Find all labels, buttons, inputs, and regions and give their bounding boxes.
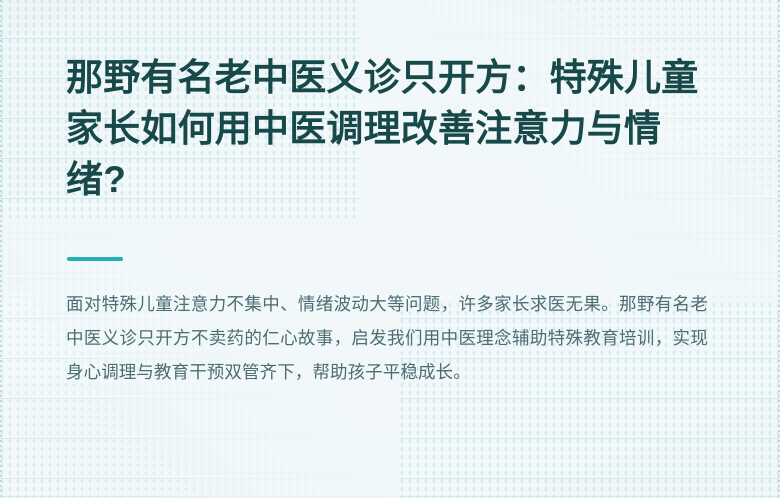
article-headline: 那野有名老中医义诊只开方：特殊儿童家长如何用中医调理改善注意力与情绪? xyxy=(66,52,706,205)
article-card: 那野有名老中医义诊只开方：特殊儿童家长如何用中医调理改善注意力与情绪? 面对特殊… xyxy=(0,0,780,498)
article-content: 那野有名老中医义诊只开方：特殊儿童家长如何用中医调理改善注意力与情绪? 面对特殊… xyxy=(66,0,714,498)
accent-divider xyxy=(67,257,123,261)
card-left-edge xyxy=(0,0,2,498)
article-summary: 面对特殊儿童注意力不集中、情绪波动大等问题，许多家长求医无果。那野有名老中医义诊… xyxy=(66,287,708,389)
